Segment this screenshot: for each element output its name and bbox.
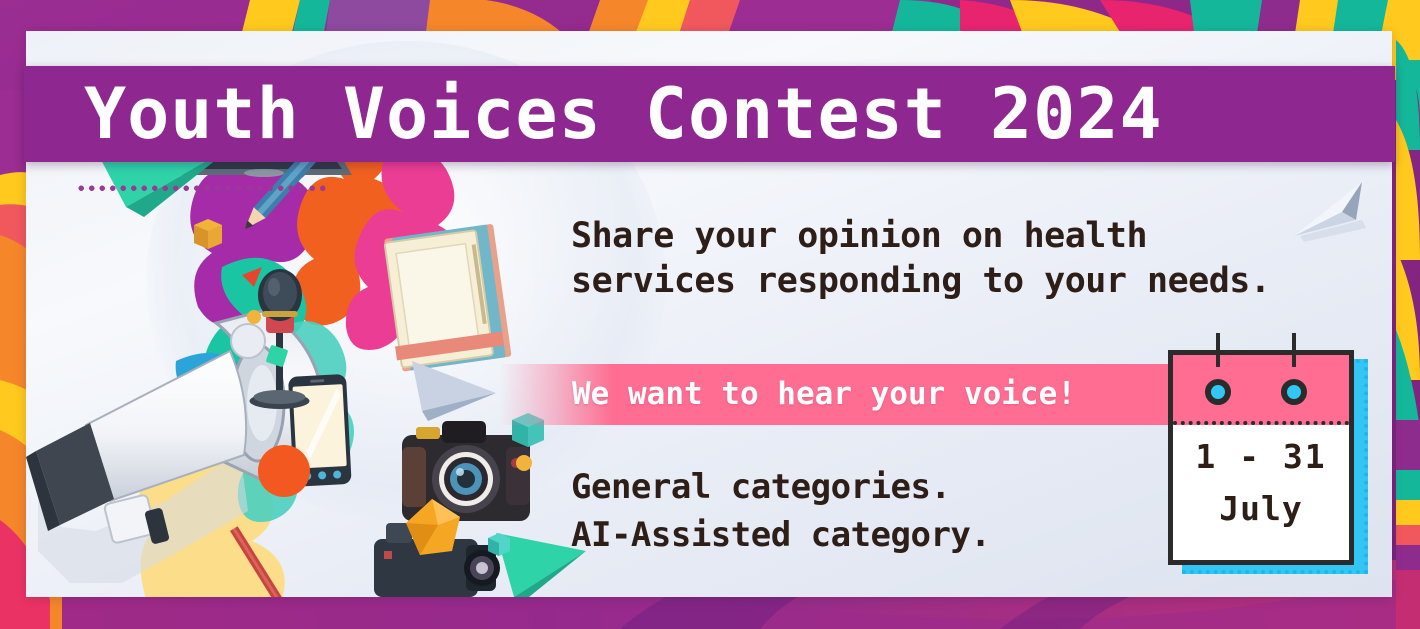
page-title: Youth Voices Contest 2024 — [24, 79, 1163, 149]
category-line-1: General categories. — [571, 463, 990, 511]
calendar-month: July — [1173, 489, 1349, 528]
notebook-icon — [380, 224, 512, 373]
calendar-pin-right — [1292, 333, 1296, 367]
calendar-widget: 1 - 31 July — [1168, 343, 1378, 583]
headline-text: Share your opinion on health services re… — [571, 214, 1371, 304]
category-line-2: AI-Assisted category. — [571, 511, 990, 559]
camera-icon — [402, 421, 530, 521]
title-bar: Youth Voices Contest 2024 — [24, 66, 1395, 162]
calendar-ring-right — [1281, 379, 1307, 405]
highlight-text: We want to hear your voice! — [572, 376, 1076, 412]
categories-text: General categories. AI-Assisted category… — [571, 463, 990, 560]
promo-banner: Youth Voices Contest 2024 Share your opi… — [0, 0, 1420, 629]
dotted-divider — [76, 183, 326, 191]
calendar-ring-left — [1205, 379, 1231, 405]
calendar-date-range: 1 - 31 — [1173, 437, 1349, 476]
calendar-header — [1173, 355, 1349, 425]
calendar-pin-left — [1216, 333, 1220, 367]
headline-line-2: services responding to your needs. — [571, 259, 1371, 304]
headline-line-1: Share your opinion on health — [571, 214, 1371, 259]
calendar-body: 1 - 31 July — [1168, 350, 1354, 565]
